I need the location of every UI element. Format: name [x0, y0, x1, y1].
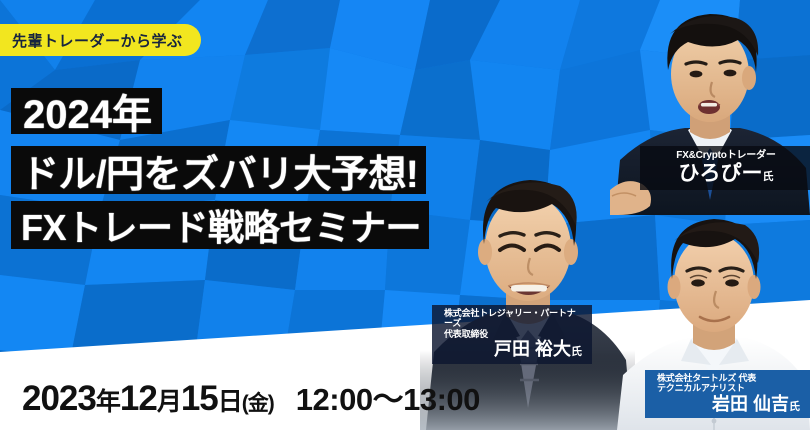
title-line-2: ドル/円をズバリ大予想! — [11, 146, 426, 194]
speaker-name-toda: 戸田 裕大氏 — [444, 339, 582, 360]
speaker-org-iwata: 株式会社タートルズ 代表 — [657, 373, 800, 383]
schedule-row: 2023年12月15日(金) 12:00〜13:00 — [22, 374, 480, 419]
schedule-date: 2023年12月15日(金) — [22, 379, 274, 419]
speaker-org-hiropi: FX&Cryptoトレーダー — [652, 150, 800, 162]
speaker-name-iwata: 岩田 仙吉氏 — [657, 394, 800, 415]
speaker-name-hiropi: ひろぴー氏 — [652, 162, 800, 186]
speaker-org-toda: 株式会社トレジャリー・パートナーズ — [444, 308, 582, 329]
name-plate-hiropi: FX&Cryptoトレーダー ひろぴー氏 — [640, 146, 810, 190]
eyebrow-badge-label: 先輩トレーダーから学ぶ — [12, 30, 183, 51]
title-line-3: FXトレード戦略セミナー — [11, 201, 429, 249]
eyebrow-badge: 先輩トレーダーから学ぶ — [0, 24, 201, 56]
speaker-role-iwata: テクニカルアナリスト — [657, 383, 800, 393]
title-line-1: 2024年 — [11, 88, 162, 134]
name-plate-toda: 株式会社トレジャリー・パートナーズ 代表取締役 戸田 裕大氏 — [432, 305, 592, 364]
seminar-banner: 先輩トレーダーから学ぶ 2024年 ドル/円をズバリ大予想! FXトレード戦略セ… — [0, 0, 810, 430]
name-plate-iwata: 株式会社タートルズ 代表 テクニカルアナリスト 岩田 仙吉氏 — [645, 370, 810, 418]
speaker-role-toda: 代表取締役 — [444, 329, 582, 339]
schedule-time: 12:00〜13:00 — [296, 374, 480, 419]
